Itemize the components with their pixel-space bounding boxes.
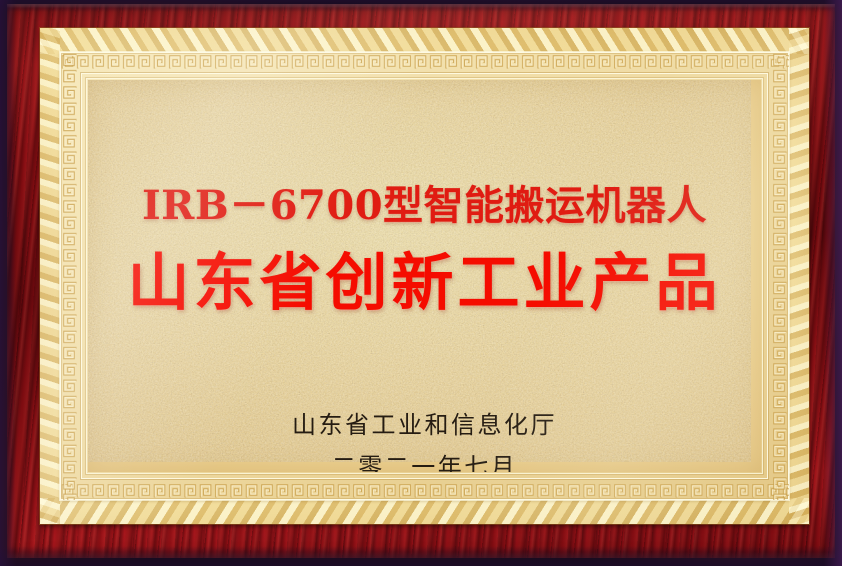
meander-band-bottom-icon <box>60 481 789 500</box>
gold-plate: IRB－6700型智能搬运机器人 山东省创新工业产品 山东省工业和信息化厅 二零… <box>40 28 809 524</box>
bevel-right <box>789 28 809 524</box>
bevel-top <box>40 28 809 54</box>
bevel-left <box>40 28 60 524</box>
meander-band-top-icon <box>60 52 789 71</box>
issue-date: 二零二一年七月 <box>88 455 761 472</box>
meander-band-left-icon <box>60 52 79 500</box>
award-plaque: IRB－6700型智能搬运机器人 山东省创新工业产品 山东省工业和信息化厅 二零… <box>0 0 842 566</box>
meander-band-right-icon <box>770 52 789 500</box>
issuing-authority: 山东省工业和信息化厅 <box>88 413 761 437</box>
plaque-text-block: IRB－6700型智能搬运机器人 山东省创新工业产品 山东省工业和信息化厅 二零… <box>88 80 761 472</box>
product-model-line: IRB－6700型智能搬运机器人 <box>88 186 761 226</box>
award-title: 山东省创新工业产品 <box>88 252 761 314</box>
bevel-bottom <box>40 498 809 524</box>
inner-panel: IRB－6700型智能搬运机器人 山东省创新工业产品 山东省工业和信息化厅 二零… <box>88 80 761 472</box>
